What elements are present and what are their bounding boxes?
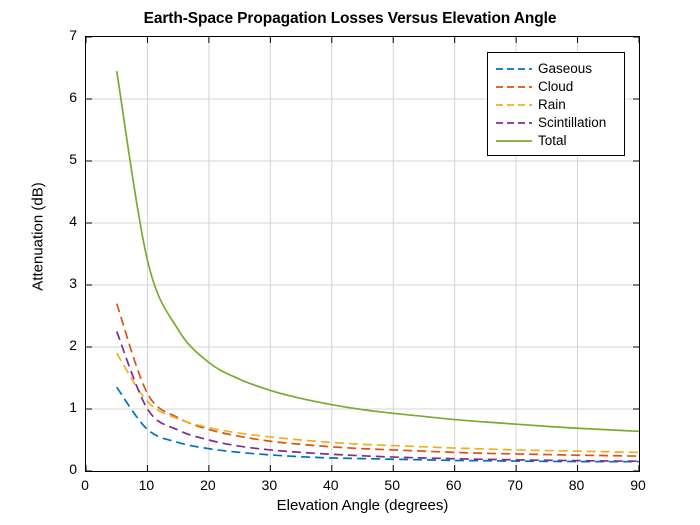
x-tick-50: 50 (372, 477, 412, 493)
x-tick-0: 0 (65, 477, 105, 493)
x-tick-40: 40 (311, 477, 351, 493)
y-tick-6: 6 (47, 89, 77, 105)
legend-label-gaseous: Gaseous (538, 61, 592, 76)
x-tick-20: 20 (188, 477, 228, 493)
x-tick-30: 30 (249, 477, 289, 493)
y-tick-2: 2 (47, 337, 77, 353)
y-tick-3: 3 (47, 275, 77, 291)
legend-label-total: Total (538, 133, 567, 148)
legend-label-scintillation: Scintillation (538, 115, 606, 130)
legend-item-cloud[interactable]: Cloud (495, 77, 617, 95)
legend-swatch-rain (495, 98, 533, 110)
y-tick-5: 5 (47, 151, 77, 167)
series-line-cloud (117, 304, 639, 457)
legend-item-scintillation[interactable]: Scintillation (495, 113, 617, 131)
x-tick-70: 70 (495, 477, 535, 493)
legend-swatch-gaseous (495, 62, 533, 74)
legend-label-cloud: Cloud (538, 79, 573, 94)
series-line-rain (117, 353, 639, 452)
x-tick-10: 10 (126, 477, 166, 493)
y-tick-0: 0 (47, 461, 77, 477)
chart-figure: Earth-Space Propagation Losses Versus El… (0, 0, 700, 525)
legend-item-rain[interactable]: Rain (495, 95, 617, 113)
legend-swatch-scintillation (495, 116, 533, 128)
legend-item-total[interactable]: Total (495, 131, 617, 149)
y-tick-7: 7 (47, 27, 77, 43)
y-tick-1: 1 (47, 399, 77, 415)
y-tick-4: 4 (47, 213, 77, 229)
legend-label-rain: Rain (538, 97, 566, 112)
y-axis-label: Attenuation (dB) (30, 137, 47, 337)
x-tick-60: 60 (434, 477, 474, 493)
x-tick-90: 90 (618, 477, 658, 493)
legend-swatch-total (495, 134, 533, 146)
chart-legend: GaseousCloudRainScintillationTotal (487, 52, 625, 156)
x-tick-80: 80 (557, 477, 597, 493)
legend-swatch-cloud (495, 80, 533, 92)
legend-item-gaseous[interactable]: Gaseous (495, 59, 617, 77)
chart-title: Earth-Space Propagation Losses Versus El… (0, 10, 700, 28)
x-axis-label: Elevation Angle (degrees) (85, 497, 640, 514)
